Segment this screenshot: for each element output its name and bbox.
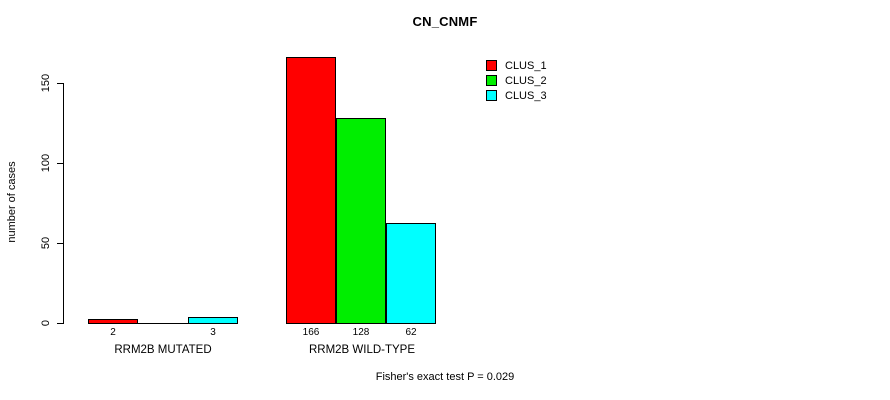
legend: CLUS_1 CLUS_2 CLUS_3	[486, 58, 547, 103]
chart-canvas: CN_CNMF number of cases 150 100 50 0 2 3…	[0, 0, 890, 400]
bar-value-label-wildtype-clus3: 62	[385, 327, 437, 338]
legend-label-clus-1: CLUS_1	[505, 60, 547, 72]
y-tick-label-0: 0	[40, 303, 52, 343]
y-tick-label-50: 50	[40, 223, 52, 263]
bar-value-label-wildtype-clus2: 128	[335, 327, 387, 338]
group-label-rrm2b-wild-type: RRM2B WILD-TYPE	[262, 344, 462, 356]
bar-mutated-clus3[interactable]	[188, 317, 238, 324]
fisher-test-annotation: Fisher's exact test P = 0.029	[0, 371, 890, 383]
y-axis-title: number of cases	[6, 152, 18, 252]
y-tick-label-150: 150	[40, 63, 52, 103]
legend-swatch-clus-1-icon	[486, 60, 497, 71]
bar-wildtype-clus2[interactable]	[336, 118, 386, 324]
legend-swatch-clus-3-icon	[486, 90, 497, 101]
bar-wildtype-clus3[interactable]	[386, 223, 436, 324]
legend-item-clus-1[interactable]: CLUS_1	[486, 58, 547, 73]
y-tick-100	[57, 163, 64, 164]
legend-label-clus-3: CLUS_3	[505, 90, 547, 102]
bar-value-label-mutated-clus3: 3	[187, 327, 239, 338]
legend-item-clus-2[interactable]: CLUS_2	[486, 73, 547, 88]
bar-mutated-clus1[interactable]	[88, 319, 138, 324]
bar-mutated-clus2[interactable]	[138, 323, 188, 324]
page-title: CN_CNMF	[0, 14, 890, 29]
y-tick-label-100: 100	[40, 143, 52, 183]
legend-item-clus-3[interactable]: CLUS_3	[486, 88, 547, 103]
bar-wildtype-clus1[interactable]	[286, 57, 336, 324]
y-axis-line	[63, 83, 64, 324]
group-label-rrm2b-mutated: RRM2B MUTATED	[63, 344, 263, 356]
y-tick-150	[57, 83, 64, 84]
y-tick-50	[57, 243, 64, 244]
bar-value-label-wildtype-clus1: 166	[285, 327, 337, 338]
bar-value-label-mutated-clus1: 2	[87, 327, 139, 338]
y-tick-0	[57, 323, 64, 324]
legend-swatch-clus-2-icon	[486, 75, 497, 86]
legend-label-clus-2: CLUS_2	[505, 75, 547, 87]
